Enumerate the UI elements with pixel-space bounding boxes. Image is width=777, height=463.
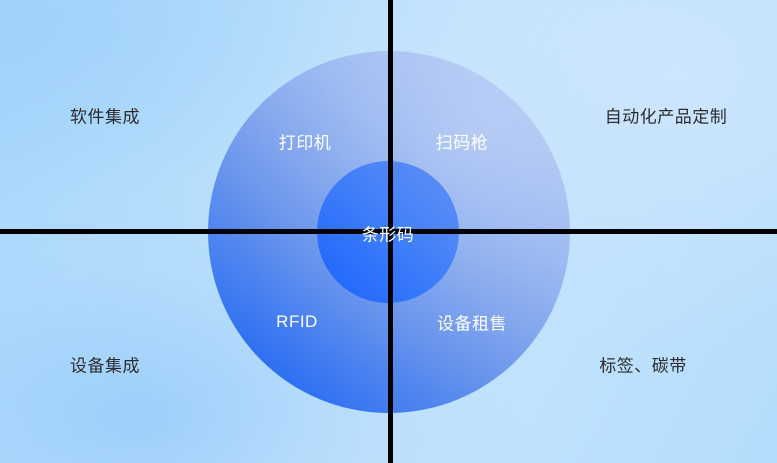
segment-label-bottom-left: RFID [276,312,318,332]
outer-label-bottom-left: 设备集成 [70,352,140,377]
outer-label-top-right: 自动化产品定制 [605,103,728,128]
segment-label-top-right: 扫码枪 [436,129,489,154]
diagram-canvas: 软件集成 自动化产品定制 设备集成 标签、碳带 打印机 扫码枪 RFID 设备租… [0,0,777,463]
segment-label-top-left: 打印机 [279,129,332,154]
outer-label-top-left: 软件集成 [70,103,140,128]
segment-label-bottom-right: 设备租售 [437,310,507,335]
core-label: 条形码 [362,221,415,246]
outer-label-bottom-right: 标签、碳带 [599,352,687,377]
